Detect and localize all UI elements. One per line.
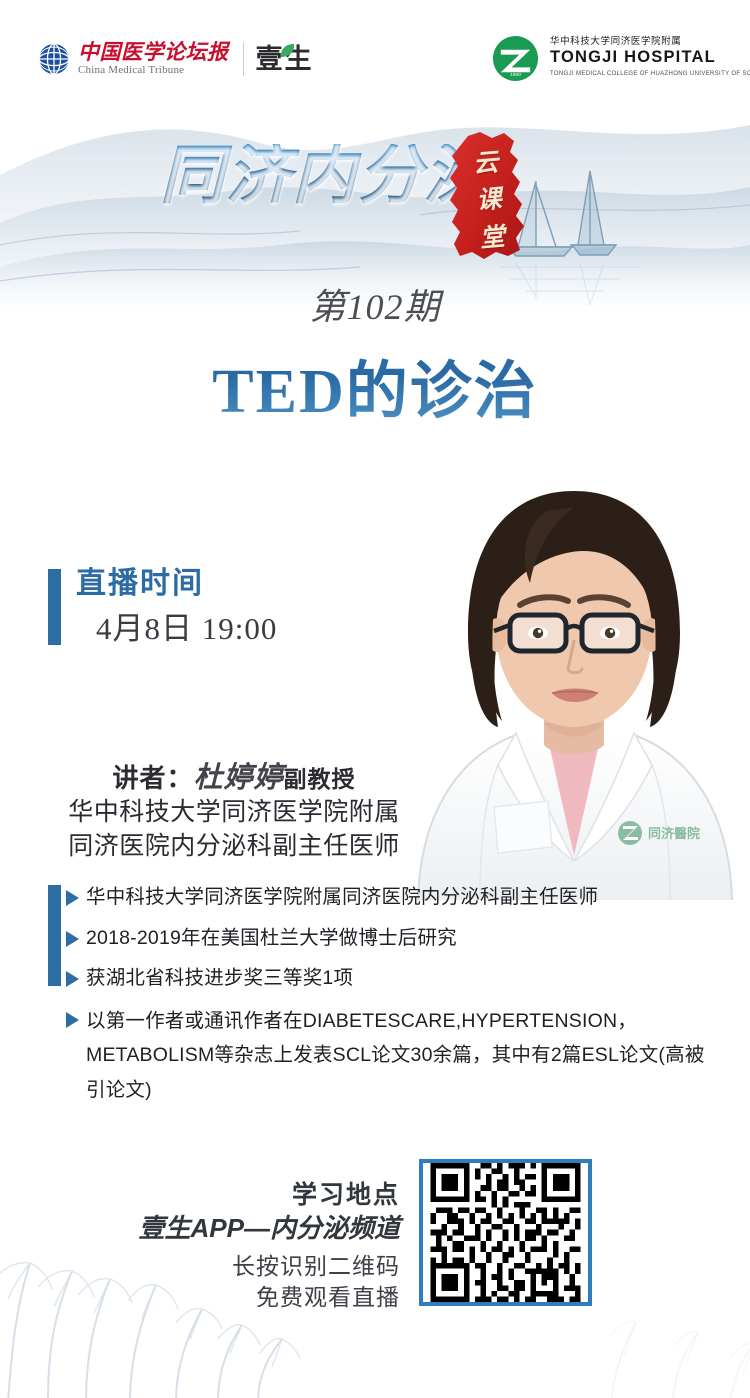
qr-code-icon[interactable] <box>423 1163 588 1302</box>
triangle-bullet-icon <box>66 931 79 947</box>
list-item-text: 以第一作者或通讯作者在DIABETESCARE,HYPERTENSION，MET… <box>86 1010 705 1101</box>
channel-name: 壹生APP—内分泌频道 <box>120 1212 400 1246</box>
cloud-char-3: 堂 <box>479 224 506 251</box>
live-time-value: 4月8日 19:00 <box>96 611 277 647</box>
speaker-name-line: 讲者：杜婷婷副教授 <box>0 758 468 796</box>
qr-hint-line-2: 免费观看直播 <box>120 1282 400 1313</box>
speaker-block: 讲者：杜婷婷副教授 华中科技大学同济医学院附属 同济医院内分泌科副主任医师 <box>0 758 468 863</box>
poster-header: 中国医学论坛报 China Medical Tribune 壹生 1900 华中… <box>0 0 750 100</box>
globe-icon <box>38 43 70 75</box>
list-item-text: 2018-2019年在美国杜兰大学做博士后研究 <box>86 927 457 949</box>
series-title-block: 同济内分泌 云 课 堂 <box>0 138 750 258</box>
cloud-char-1: 云 <box>472 149 499 176</box>
svg-text:1900: 1900 <box>510 72 521 78</box>
qr-code[interactable] <box>419 1159 592 1306</box>
cmt-english-name: China Medical Tribune <box>78 64 229 77</box>
webinar-poster: 中国医学论坛报 China Medical Tribune 壹生 1900 华中… <box>0 0 750 1398</box>
tongji-affiliation: 华中科技大学同济医学院附属 <box>550 37 750 48</box>
list-item: 以第一作者或通讯作者在DIABETESCARE,HYPERTENSION，MET… <box>48 1004 716 1108</box>
list-item: 华中科技大学同济医学院附属同济医院内分泌科副主任医师 <box>48 882 716 914</box>
ysheng-brand: 壹生 <box>256 46 314 73</box>
speaker-affiliation-2: 同济医院内分泌科副主任医师 <box>0 830 468 864</box>
tongji-english-name: TONGJI HOSPITAL <box>550 48 750 68</box>
speaker-prefix: 讲者： <box>112 763 193 793</box>
svg-text:同济醫院: 同济醫院 <box>648 826 700 842</box>
footer-block: 学习地点 壹生APP—内分泌频道 长按识别二维码 免费观看直播 <box>0 1155 750 1355</box>
list-item-text: 获湖北省科技进步奖三等奖1项 <box>86 967 353 989</box>
bio-list: 华中科技大学同济医学院附属同济医院内分泌科副主任医师 2018-2019年在美国… <box>48 882 716 1108</box>
episode-number: 第102期 <box>0 278 750 330</box>
page-title: TED的诊治 <box>0 340 750 430</box>
triangle-bullet-icon <box>66 971 79 987</box>
logo-divider <box>243 42 244 76</box>
cloud-char-2: 课 <box>475 186 502 213</box>
list-item: 获湖北省科技进步奖三等奖1项 <box>48 963 716 995</box>
china-medical-tribune-logo: 中国医学论坛报 China Medical Tribune 壹生 <box>38 36 314 82</box>
list-item-text: 华中科技大学同济医学院附属同济医院内分泌科副主任医师 <box>86 886 598 908</box>
triangle-bullet-icon <box>66 890 79 906</box>
cmt-chinese-name: 中国医学论坛报 <box>78 41 229 63</box>
qr-hint-line-1: 长按识别二维码 <box>120 1251 400 1282</box>
accent-bar <box>48 569 61 645</box>
tongji-english-sub: TONGJI MEDICAL COLLEGE OF HUAZHONG UNIVE… <box>550 71 750 79</box>
live-time-label: 直播时间 <box>76 567 204 602</box>
study-location-label: 学习地点 <box>120 1179 400 1212</box>
study-location-text: 学习地点 壹生APP—内分泌频道 长按识别二维码 免费观看直播 <box>120 1179 400 1313</box>
speaker-rank: 副教授 <box>284 766 356 792</box>
triangle-bullet-icon <box>66 1012 79 1028</box>
cloud-class-text: 云 课 堂 <box>449 141 528 259</box>
speaker-name: 杜婷婷 <box>194 760 284 794</box>
speaker-affiliation-1: 华中科技大学同济医学院附属 <box>0 796 468 830</box>
list-item: 2018-2019年在美国杜兰大学做博士后研究 <box>48 923 716 955</box>
tongji-emblem-icon: 1900 <box>492 35 539 82</box>
tongji-hospital-logo: 1900 华中科技大学同济医学院附属 TONGJI HOSPITAL TONGJ… <box>492 32 750 84</box>
speaker-bio-block: 华中科技大学同济医学院附属同济医院内分泌科副主任医师 2018-2019年在美国… <box>48 882 716 1108</box>
live-time-block: 直播时间 4月8日 19:00 <box>48 567 348 657</box>
leaf-icon <box>280 43 295 59</box>
series-title: 同济内分泌 <box>160 144 490 208</box>
